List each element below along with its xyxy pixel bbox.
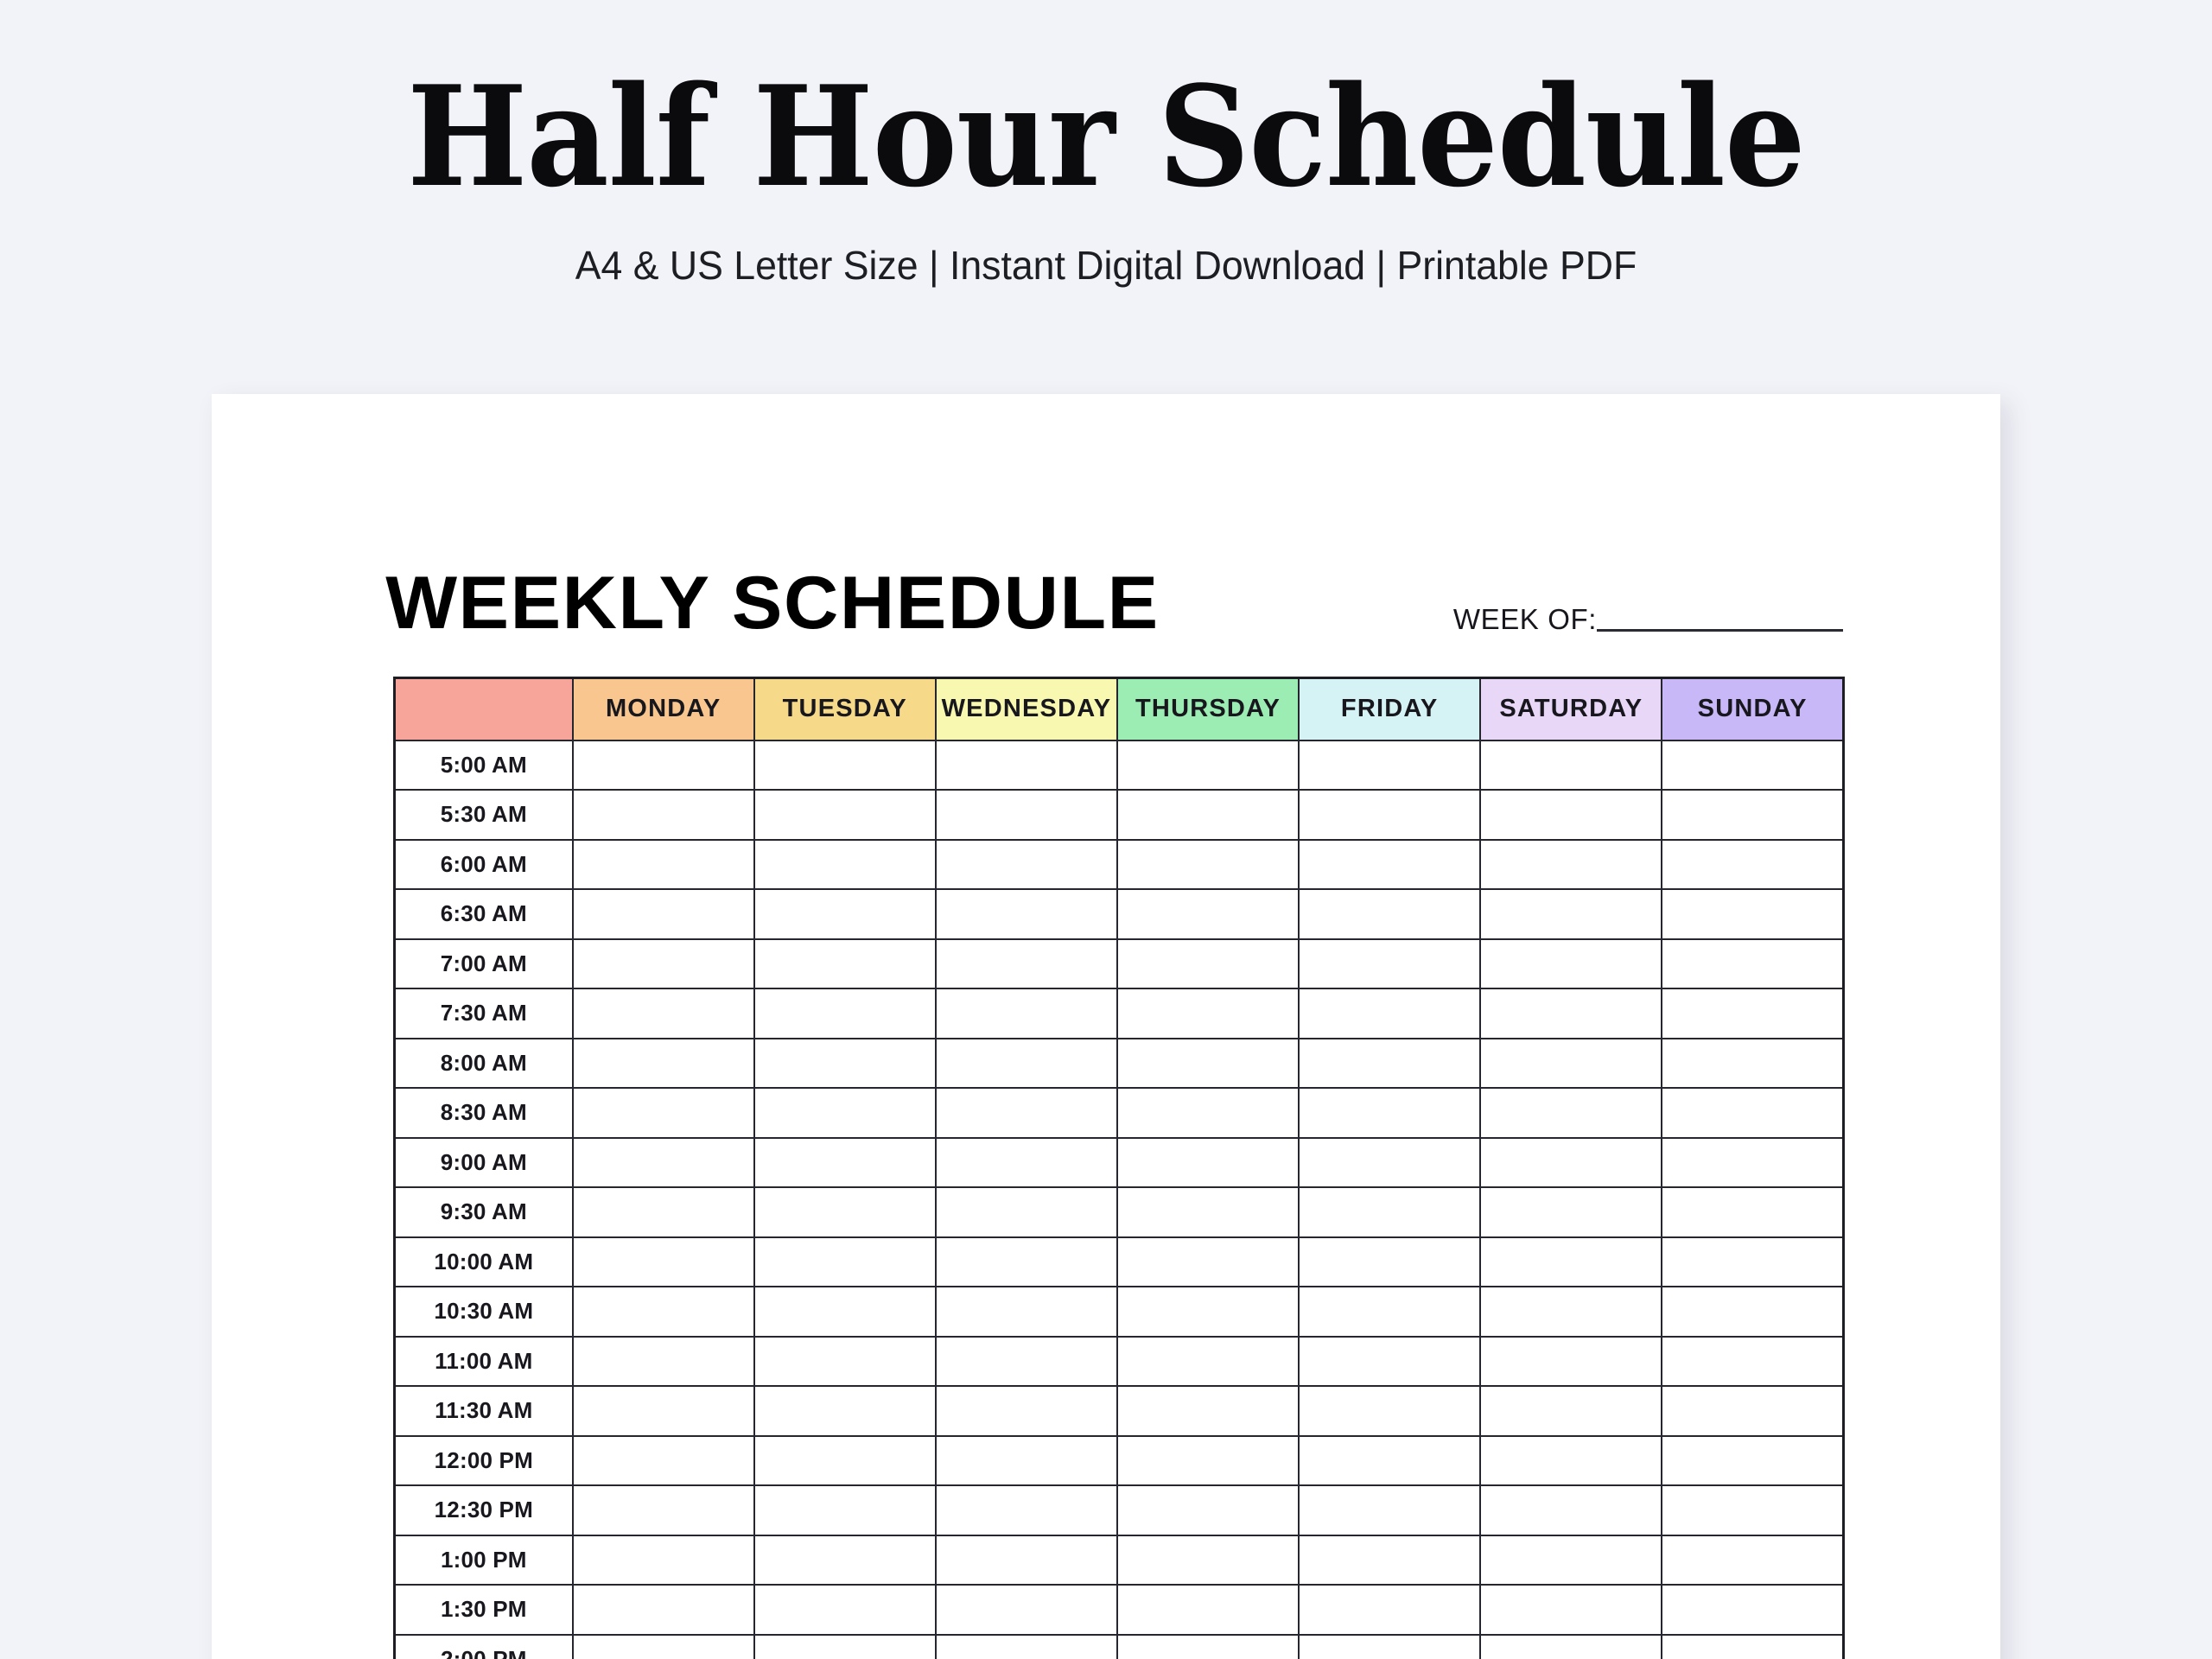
schedule-slot-thursday[interactable]: [1117, 1635, 1299, 1659]
schedule-slot-wednesday[interactable]: [936, 1088, 1117, 1138]
schedule-slot-saturday[interactable]: [1480, 1535, 1662, 1586]
schedule-slot-tuesday[interactable]: [754, 741, 936, 791]
schedule-header-sunday: SUNDAY: [1662, 678, 1843, 741]
schedule-slot-friday[interactable]: [1299, 1039, 1480, 1089]
schedule-slot-tuesday[interactable]: [754, 790, 936, 840]
schedule-slot-wednesday[interactable]: [936, 1386, 1117, 1436]
schedule-slot-wednesday[interactable]: [936, 1337, 1117, 1387]
schedule-slot-saturday[interactable]: [1480, 1386, 1662, 1436]
schedule-row: 9:00 AM: [395, 1138, 1844, 1188]
schedule-header-wednesday: WEDNESDAY: [936, 678, 1117, 741]
schedule-row: 8:00 AM: [395, 1039, 1844, 1089]
schedule-row: 6:30 AM: [395, 889, 1844, 939]
schedule-slot-tuesday[interactable]: [754, 1287, 936, 1337]
schedule-slot-thursday[interactable]: [1117, 1436, 1299, 1486]
schedule-slot-sunday[interactable]: [1662, 1088, 1843, 1138]
time-label: 11:00 AM: [395, 1337, 573, 1387]
schedule-slot-tuesday[interactable]: [754, 1436, 936, 1486]
schedule-slot-sunday[interactable]: [1662, 1485, 1843, 1535]
schedule-header-row: MONDAYTUESDAYWEDNESDAYTHURSDAYFRIDAYSATU…: [395, 678, 1844, 741]
schedule-slot-saturday[interactable]: [1480, 1337, 1662, 1387]
schedule-slot-monday[interactable]: [573, 988, 754, 1039]
schedule-slot-tuesday[interactable]: [754, 1585, 936, 1635]
schedule-slot-sunday[interactable]: [1662, 1585, 1843, 1635]
schedule-slot-tuesday[interactable]: [754, 1337, 936, 1387]
schedule-slot-thursday[interactable]: [1117, 1039, 1299, 1089]
schedule-slot-thursday[interactable]: [1117, 1337, 1299, 1387]
schedule-slot-wednesday[interactable]: [936, 1485, 1117, 1535]
listing-title: Half Hour Schedule: [88, 67, 2123, 206]
time-label: 12:30 PM: [395, 1485, 573, 1535]
schedule-slot-tuesday[interactable]: [754, 840, 936, 890]
schedule-slot-sunday[interactable]: [1662, 988, 1843, 1039]
schedule-slot-thursday[interactable]: [1117, 1386, 1299, 1436]
schedule-slot-sunday[interactable]: [1662, 1138, 1843, 1188]
time-label: 1:00 PM: [395, 1535, 573, 1586]
schedule-row: 10:30 AM: [395, 1287, 1844, 1337]
schedule-slot-wednesday[interactable]: [936, 1535, 1117, 1586]
schedule-row: 12:30 PM: [395, 1485, 1844, 1535]
schedule-slot-thursday[interactable]: [1117, 1138, 1299, 1188]
schedule-slot-wednesday[interactable]: [936, 1635, 1117, 1659]
time-label: 12:00 PM: [395, 1436, 573, 1486]
schedule-row: 10:00 AM: [395, 1237, 1844, 1287]
schedule-slot-wednesday[interactable]: [936, 1287, 1117, 1337]
schedule-slot-saturday[interactable]: [1480, 1436, 1662, 1486]
schedule-slot-sunday[interactable]: [1662, 840, 1843, 890]
schedule-slot-sunday[interactable]: [1662, 1237, 1843, 1287]
schedule-slot-tuesday[interactable]: [754, 1039, 936, 1089]
schedule-slot-monday[interactable]: [573, 889, 754, 939]
schedule-slot-monday[interactable]: [573, 1436, 754, 1486]
schedule-slot-saturday[interactable]: [1480, 1287, 1662, 1337]
schedule-slot-friday[interactable]: [1299, 1436, 1480, 1486]
schedule-slot-saturday[interactable]: [1480, 1585, 1662, 1635]
schedule-slot-thursday[interactable]: [1117, 1237, 1299, 1287]
schedule-slot-tuesday[interactable]: [754, 1485, 936, 1535]
schedule-slot-monday[interactable]: [573, 1386, 754, 1436]
schedule-slot-tuesday[interactable]: [754, 1535, 936, 1586]
time-label: 5:00 AM: [395, 741, 573, 791]
schedule-slot-tuesday[interactable]: [754, 1635, 936, 1659]
schedule-row: 6:00 AM: [395, 840, 1844, 890]
schedule-slot-tuesday[interactable]: [754, 1386, 936, 1436]
schedule-slot-sunday[interactable]: [1662, 790, 1843, 840]
schedule-slot-thursday[interactable]: [1117, 790, 1299, 840]
schedule-slot-monday[interactable]: [573, 939, 754, 989]
schedule-row: 2:00 PM: [395, 1635, 1844, 1659]
schedule-slot-saturday[interactable]: [1480, 1039, 1662, 1089]
schedule-slot-monday[interactable]: [573, 1337, 754, 1387]
time-label: 8:00 AM: [395, 1039, 573, 1089]
schedule-slot-saturday[interactable]: [1480, 1237, 1662, 1287]
schedule-slot-friday[interactable]: [1299, 741, 1480, 791]
schedule-slot-friday[interactable]: [1299, 1237, 1480, 1287]
week-of-field[interactable]: WEEK OF:: [1453, 605, 1843, 640]
schedule-slot-thursday[interactable]: [1117, 1535, 1299, 1586]
schedule-slot-wednesday[interactable]: [936, 1585, 1117, 1635]
schedule-slot-thursday[interactable]: [1117, 988, 1299, 1039]
schedule-header-friday: FRIDAY: [1299, 678, 1480, 741]
schedule-slot-sunday[interactable]: [1662, 1386, 1843, 1436]
schedule-slot-wednesday[interactable]: [936, 939, 1117, 989]
week-of-write-in-line[interactable]: [1597, 629, 1843, 632]
schedule-slot-friday[interactable]: [1299, 1585, 1480, 1635]
schedule-slot-friday[interactable]: [1299, 988, 1480, 1039]
schedule-slot-tuesday[interactable]: [754, 1138, 936, 1188]
schedule-slot-friday[interactable]: [1299, 1138, 1480, 1188]
sheet-content: WEEKLY SCHEDULE WEEK OF: MONDAYTUESDAYWE…: [393, 545, 1845, 1659]
schedule-header-tuesday: TUESDAY: [754, 678, 936, 741]
schedule-slot-friday[interactable]: [1299, 1635, 1480, 1659]
schedule-header-monday: MONDAY: [573, 678, 754, 741]
schedule-slot-sunday[interactable]: [1662, 1436, 1843, 1486]
time-label: 11:30 AM: [395, 1386, 573, 1436]
schedule-slot-monday[interactable]: [573, 1237, 754, 1287]
schedule-slot-wednesday[interactable]: [936, 1187, 1117, 1237]
time-label: 6:30 AM: [395, 889, 573, 939]
schedule-header-thursday: THURSDAY: [1117, 678, 1299, 741]
schedule-slot-wednesday[interactable]: [936, 1039, 1117, 1089]
schedule-slot-sunday[interactable]: [1662, 1635, 1843, 1659]
schedule-slot-monday[interactable]: [573, 790, 754, 840]
schedule-row: 1:30 PM: [395, 1585, 1844, 1635]
schedule-slot-monday[interactable]: [573, 741, 754, 791]
sheet-title-row: WEEKLY SCHEDULE WEEK OF:: [393, 545, 1845, 640]
time-label: 5:30 AM: [395, 790, 573, 840]
schedule-slot-thursday[interactable]: [1117, 1485, 1299, 1535]
schedule-row: 5:30 AM: [395, 790, 1844, 840]
printable-page-preview: WEEKLY SCHEDULE WEEK OF: MONDAYTUESDAYWE…: [212, 394, 2000, 1659]
schedule-slot-monday[interactable]: [573, 1138, 754, 1188]
schedule-slot-wednesday[interactable]: [936, 988, 1117, 1039]
schedule-slot-friday[interactable]: [1299, 939, 1480, 989]
schedule-slot-friday[interactable]: [1299, 1386, 1480, 1436]
schedule-slot-wednesday[interactable]: [936, 889, 1117, 939]
schedule-slot-tuesday[interactable]: [754, 988, 936, 1039]
schedule-slot-sunday[interactable]: [1662, 939, 1843, 989]
listing-header: Half Hour Schedule A4 & US Letter Size |…: [0, 0, 2212, 288]
sheet-title: WEEKLY SCHEDULE: [385, 566, 1159, 640]
schedule-slot-monday[interactable]: [573, 1039, 754, 1089]
schedule-slot-sunday[interactable]: [1662, 889, 1843, 939]
schedule-slot-saturday[interactable]: [1480, 741, 1662, 791]
schedule-slot-saturday[interactable]: [1480, 1088, 1662, 1138]
schedule-slot-monday[interactable]: [573, 1585, 754, 1635]
schedule-head: MONDAYTUESDAYWEDNESDAYTHURSDAYFRIDAYSATU…: [395, 678, 1844, 741]
schedule-row: 12:00 PM: [395, 1436, 1844, 1486]
schedule-slot-friday[interactable]: [1299, 1535, 1480, 1586]
time-label: 7:30 AM: [395, 988, 573, 1039]
schedule-slot-monday[interactable]: [573, 1287, 754, 1337]
schedule-slot-friday[interactable]: [1299, 889, 1480, 939]
schedule-slot-thursday[interactable]: [1117, 889, 1299, 939]
schedule-slot-thursday[interactable]: [1117, 1187, 1299, 1237]
schedule-slot-wednesday[interactable]: [936, 1237, 1117, 1287]
schedule-slot-saturday[interactable]: [1480, 840, 1662, 890]
week-of-label: WEEK OF:: [1453, 605, 1597, 633]
time-label: 10:30 AM: [395, 1287, 573, 1337]
schedule-slot-sunday[interactable]: [1662, 1039, 1843, 1089]
schedule-slot-sunday[interactable]: [1662, 1187, 1843, 1237]
schedule-row: 11:00 AM: [395, 1337, 1844, 1387]
schedule-slot-thursday[interactable]: [1117, 1585, 1299, 1635]
schedule-slot-thursday[interactable]: [1117, 741, 1299, 791]
schedule-slot-thursday[interactable]: [1117, 1088, 1299, 1138]
schedule-slot-wednesday[interactable]: [936, 741, 1117, 791]
schedule-slot-saturday[interactable]: [1480, 1187, 1662, 1237]
weekly-schedule-table: MONDAYTUESDAYWEDNESDAYTHURSDAYFRIDAYSATU…: [393, 677, 1845, 1659]
schedule-slot-monday[interactable]: [573, 1187, 754, 1237]
schedule-slot-tuesday[interactable]: [754, 889, 936, 939]
time-label: 6:00 AM: [395, 840, 573, 890]
time-label: 9:00 AM: [395, 1138, 573, 1188]
schedule-slot-sunday[interactable]: [1662, 1337, 1843, 1387]
schedule-slot-saturday[interactable]: [1480, 790, 1662, 840]
schedule-row: 1:00 PM: [395, 1535, 1844, 1586]
schedule-slot-sunday[interactable]: [1662, 1287, 1843, 1337]
schedule-row: 7:30 AM: [395, 988, 1844, 1039]
schedule-slot-saturday[interactable]: [1480, 1635, 1662, 1659]
schedule-slot-sunday[interactable]: [1662, 1535, 1843, 1586]
schedule-slot-friday[interactable]: [1299, 790, 1480, 840]
time-label: 1:30 PM: [395, 1585, 573, 1635]
schedule-slot-saturday[interactable]: [1480, 939, 1662, 989]
schedule-slot-friday[interactable]: [1299, 1287, 1480, 1337]
schedule-row: 9:30 AM: [395, 1187, 1844, 1237]
schedule-slot-tuesday[interactable]: [754, 1237, 936, 1287]
schedule-slot-sunday[interactable]: [1662, 741, 1843, 791]
schedule-header-time-corner: [395, 678, 573, 741]
schedule-slot-saturday[interactable]: [1480, 1485, 1662, 1535]
schedule-slot-friday[interactable]: [1299, 1088, 1480, 1138]
schedule-slot-saturday[interactable]: [1480, 889, 1662, 939]
schedule-slot-monday[interactable]: [573, 1485, 754, 1535]
schedule-row: 8:30 AM: [395, 1088, 1844, 1138]
schedule-slot-friday[interactable]: [1299, 840, 1480, 890]
schedule-slot-saturday[interactable]: [1480, 1138, 1662, 1188]
schedule-header-saturday: SATURDAY: [1480, 678, 1662, 741]
schedule-slot-monday[interactable]: [573, 1635, 754, 1659]
schedule-row: 7:00 AM: [395, 939, 1844, 989]
schedule-slot-monday[interactable]: [573, 1088, 754, 1138]
schedule-slot-tuesday[interactable]: [754, 1187, 936, 1237]
schedule-slot-thursday[interactable]: [1117, 840, 1299, 890]
schedule-slot-wednesday[interactable]: [936, 840, 1117, 890]
schedule-table-wrap: MONDAYTUESDAYWEDNESDAYTHURSDAYFRIDAYSATU…: [393, 677, 1845, 1659]
time-label: 8:30 AM: [395, 1088, 573, 1138]
listing-subtitle: A4 & US Letter Size | Instant Digital Do…: [33, 244, 2178, 288]
schedule-slot-friday[interactable]: [1299, 1337, 1480, 1387]
time-label: 7:00 AM: [395, 939, 573, 989]
schedule-slot-tuesday[interactable]: [754, 939, 936, 989]
schedule-slot-wednesday[interactable]: [936, 790, 1117, 840]
schedule-row: 11:30 AM: [395, 1386, 1844, 1436]
time-label: 2:00 PM: [395, 1635, 573, 1659]
schedule-slot-wednesday[interactable]: [936, 1138, 1117, 1188]
schedule-slot-monday[interactable]: [573, 1535, 754, 1586]
schedule-slot-thursday[interactable]: [1117, 939, 1299, 989]
schedule-slot-friday[interactable]: [1299, 1187, 1480, 1237]
schedule-slot-tuesday[interactable]: [754, 1088, 936, 1138]
schedule-slot-monday[interactable]: [573, 840, 754, 890]
schedule-body: 5:00 AM5:30 AM6:00 AM6:30 AM7:00 AM7:30 …: [395, 741, 1844, 1659]
schedule-slot-saturday[interactable]: [1480, 988, 1662, 1039]
schedule-row: 5:00 AM: [395, 741, 1844, 791]
schedule-slot-friday[interactable]: [1299, 1485, 1480, 1535]
time-label: 9:30 AM: [395, 1187, 573, 1237]
time-label: 10:00 AM: [395, 1237, 573, 1287]
schedule-slot-wednesday[interactable]: [936, 1436, 1117, 1486]
schedule-slot-thursday[interactable]: [1117, 1287, 1299, 1337]
